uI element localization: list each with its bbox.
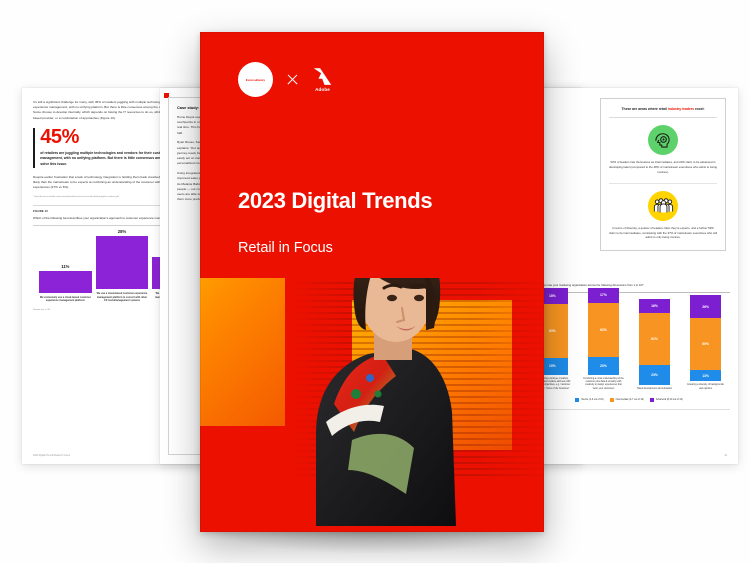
stacked-bar-group: 26% 60% 13% Ensuring a diversity of back…	[685, 295, 726, 391]
legend-swatch-novice	[575, 398, 579, 402]
legend-swatch-intermediate	[610, 398, 614, 402]
stacked-category-label: Talent development and education	[637, 388, 672, 391]
segment-intermediate: 60%	[690, 318, 721, 370]
pull-quote-rule	[33, 128, 35, 168]
legend-label: Novice (1-3 out of 10)	[581, 399, 603, 401]
callout-heading-post: excel:	[694, 107, 705, 111]
cover-inner: Econsultancy Adobe 2023 Digital Trends R…	[200, 32, 544, 532]
footer-title: 2023 Digital Trends Retail in Focus	[33, 454, 70, 457]
legend-swatch-advanced	[650, 398, 654, 402]
cover-artwork	[200, 278, 544, 532]
cover-subtitle: Retail in Focus	[238, 240, 333, 256]
segment-novice: 23%	[639, 365, 670, 385]
adobe-logo: Adobe	[312, 67, 333, 93]
x-separator-icon	[286, 73, 299, 86]
segment-intermediate: 63%	[588, 303, 619, 357]
bar	[39, 271, 92, 293]
callout-icon-2-wrap	[609, 191, 717, 221]
segment-intermediate: 61%	[639, 313, 670, 365]
stacked-bar: 26% 60% 13%	[690, 295, 721, 381]
legend-label: Advanced (8-10 out of 10)	[656, 399, 683, 401]
stacked-bar-group: 16% 61% 23% Talent development and educa…	[634, 299, 675, 391]
legend-item: Advanced (8-10 out of 10)	[650, 398, 683, 402]
segment-novice: 20%	[588, 357, 619, 375]
econsultancy-logo: Econsultancy	[238, 62, 273, 97]
bar-value: 11%	[61, 264, 69, 269]
callout-heading-highlight: industry leaders	[668, 107, 694, 111]
stacked-bar-chart: 18% 63% 19% Connecting employee creativi…	[528, 299, 730, 391]
document-preview-composition: It's still a significant challenge for m…	[0, 0, 750, 563]
legend-label: Intermediate (4-7 out of 10)	[616, 399, 644, 401]
group-of-people-icon	[648, 191, 678, 221]
cover-title: 2023 Digital Trends	[238, 188, 432, 214]
stacked-category-label: Ensuring a diversity of backgrounds and …	[685, 384, 726, 391]
callout-heading-pre: These are areas where retail	[621, 107, 667, 111]
chart-legend: Novice (1-3 out of 10) Intermediate (4-7…	[528, 398, 730, 402]
callout-icon-1-wrap	[609, 125, 717, 155]
bar	[96, 236, 149, 289]
industry-leaders-callout: These are areas where retail industry le…	[600, 98, 726, 251]
bar-category-label: We exclusively use a cloud-based custome…	[39, 296, 92, 304]
report-cover[interactable]: Econsultancy Adobe 2023 Digital Trends R…	[200, 32, 544, 532]
stacked-category-label: Combining a cross understanding of the c…	[583, 378, 624, 392]
adobe-wordmark: Adobe	[315, 87, 330, 92]
bar-group: 28% We use a cloud-based customer experi…	[96, 229, 149, 303]
cover-logo-lockup: Econsultancy Adobe	[238, 62, 333, 97]
segment-novice: 13%	[690, 370, 721, 381]
bar-value: 28%	[118, 229, 126, 234]
stacked-bar: 16% 61% 23%	[639, 299, 670, 385]
callout-stat-2: In terms of diversity, a quarter of lead…	[609, 226, 717, 241]
callout-heading: These are areas where retail industry le…	[609, 107, 717, 112]
segment-advanced: 26%	[690, 295, 721, 318]
cover-portrait-photo	[256, 278, 486, 526]
right-document-page[interactable]: These are areas where retail industry le…	[520, 88, 738, 464]
callout-divider	[609, 117, 717, 118]
figure-6-block: How would you rate your marketing organi…	[528, 284, 730, 410]
segment-advanced: 17%	[588, 288, 619, 303]
econsultancy-wordmark: Econsultancy	[246, 78, 265, 82]
right-page-footer: 14	[531, 454, 727, 457]
bar-category-label: We use a cloud-based customer experience…	[96, 292, 149, 303]
legend-item: Intermediate (4-7 out of 10)	[610, 398, 644, 402]
callout-divider-2	[609, 183, 717, 184]
legend-item: Novice (1-3 out of 10)	[575, 398, 603, 402]
adobe-a-icon	[312, 67, 333, 86]
head-with-gear-icon	[648, 125, 678, 155]
stacked-bar: 17% 63% 20%	[588, 288, 619, 375]
stacked-bar-group: 17% 63% 20% Combining a cross understand…	[583, 288, 624, 392]
segment-advanced: 16%	[639, 299, 670, 313]
legend-divider	[528, 409, 730, 410]
page-number: 14	[724, 454, 727, 457]
callout-stat-1: 52% of leaders rate themselves as interm…	[609, 160, 717, 175]
bar-group: 11% We exclusively use a cloud-based cus…	[39, 229, 92, 303]
